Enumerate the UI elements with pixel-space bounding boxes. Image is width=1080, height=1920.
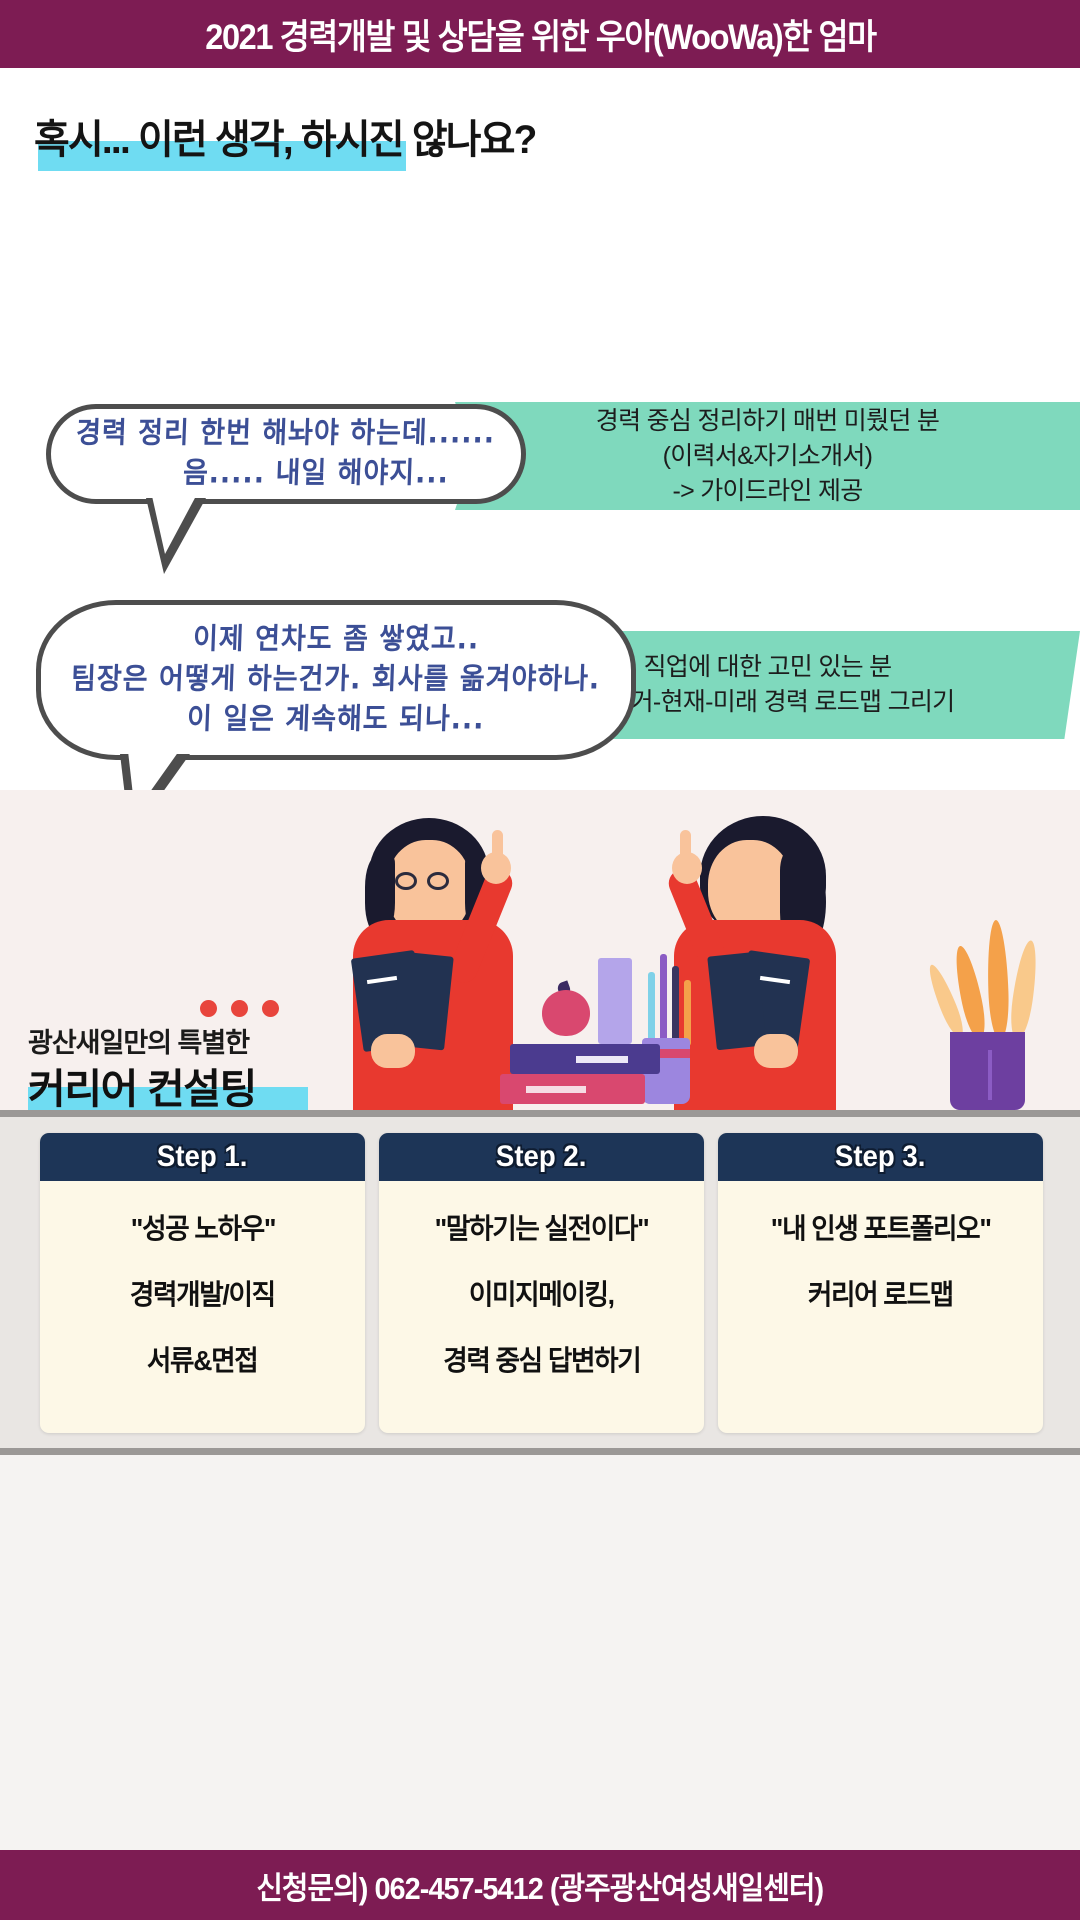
step-line: "성공 노하우" <box>130 1207 274 1247</box>
subtitle-text: 혹시... 이런 생각, 하시진 않나요? <box>34 110 1049 170</box>
speech-bubble-1: 경력 정리 한번 해놔야 하는데...... 음..... 내일 해야지... <box>46 404 526 504</box>
step-line: "내 인생 포트폴리오" <box>771 1207 991 1247</box>
step-label: Step 2. <box>496 1140 587 1174</box>
pencil-icon <box>684 980 691 1046</box>
book-label <box>576 1056 628 1063</box>
header-bar: 2021 경력개발 및 상담을 위한 우아(WooWa)한 엄마 <box>0 0 1080 68</box>
steps-row: Step 1. "성공 노하우" 경력개발/이직 서류&면접 Step 2. "… <box>40 1133 1045 1433</box>
step-card-header: Step 2. <box>379 1133 704 1181</box>
pen-icon <box>672 966 679 1046</box>
plant-leaf-icon <box>1007 939 1041 1041</box>
brand-title: 커리어 컨설팅 <box>28 1065 368 1113</box>
step-label: Step 3. <box>835 1140 926 1174</box>
step-line: 커리어 로드맵 <box>808 1273 953 1313</box>
glasses-icon <box>395 872 417 890</box>
step-card-3[interactable]: Step 3. "내 인생 포트폴리오" 커리어 로드맵 <box>718 1133 1043 1433</box>
pointing-finger <box>492 830 503 860</box>
dot-icon <box>262 1000 279 1017</box>
step-line: 경력 중심 답변하기 <box>443 1339 640 1379</box>
step-line: 경력개발/이직 <box>130 1273 275 1313</box>
answer-panel-1: 경력 중심 정리하기 매번 미뤘던 분 (이력서&자기소개서) -> 가이드라인… <box>455 402 1080 510</box>
step-card-body: "말하기는 실전이다" 이미지메이킹, 경력 중심 답변하기 <box>379 1181 704 1433</box>
plant-leaf-icon <box>986 920 1010 1041</box>
footer-blank-area <box>0 1455 1080 1850</box>
step-line: "말하기는 실전이다" <box>435 1207 649 1247</box>
footer-divider <box>0 1448 1080 1455</box>
desk-objects <box>490 950 720 1110</box>
pencil-icon <box>648 972 655 1046</box>
speech-bubble-2: 이제 연차도 좀 쌓였고.. 팀장은 어떻게 하는건가. 회사를 옮겨야하나. … <box>36 600 636 760</box>
hand <box>371 1034 415 1068</box>
footer-bar: 신청문의) 062-457-5412 (광주광산여성새일센터) <box>0 1850 1080 1920</box>
hand <box>754 1034 798 1068</box>
step-line: 이미지메이킹, <box>469 1273 614 1313</box>
step-line: 서류&면접 <box>147 1339 257 1379</box>
contact-text: 신청문의) 062-457-5412 (광주광산여성새일센터) <box>257 1863 824 1908</box>
step-card-header: Step 1. <box>40 1133 365 1181</box>
book-label <box>526 1086 586 1093</box>
bubble-line: 이제 연차도 좀 쌓였고.. <box>192 618 480 661</box>
answer-line: -> 과거-현재-미래 경력 로드맵 그리기 <box>581 685 955 720</box>
speech-bubble-tail-1-inner <box>152 496 196 554</box>
answer-line: -> 가이드라인 제공 <box>672 474 862 509</box>
answer-line: 직업에 대한 고민 있는 분 <box>644 650 892 685</box>
step-card-header: Step 3. <box>718 1133 1043 1181</box>
apple-icon <box>542 990 590 1036</box>
plant-pot-icon <box>950 1032 1025 1110</box>
brand-title-wrap: 커리어 컨설팅 <box>28 1065 368 1117</box>
answer-line: (이력서&자기소개서) <box>663 439 873 474</box>
brand-block: 광산새일만의 특별한 커리어 컨설팅 <box>28 1000 368 1117</box>
dot-icon <box>231 1000 248 1017</box>
bubble-line: 경력 정리 한번 해놔야 하는데...... <box>76 412 497 455</box>
dot-icon <box>200 1000 217 1017</box>
bubble-line: 이 일은 계속해도 되나... <box>186 698 485 741</box>
step-label: Step 1. <box>157 1140 248 1174</box>
glasses-icon <box>427 872 449 890</box>
step-card-body: "내 인생 포트폴리오" 커리어 로드맵 <box>718 1181 1043 1433</box>
step-card-body: "성공 노하우" 경력개발/이직 서류&면접 <box>40 1181 365 1433</box>
page-title: 2021 경력개발 및 상담을 위한 우아(WooWa)한 엄마 <box>205 9 875 60</box>
decorative-dots <box>200 1000 368 1017</box>
pointing-finger <box>680 830 691 860</box>
bubble-line: 팀장은 어떻게 하는건가. 회사를 옮겨야하나. <box>71 658 602 701</box>
subtitle-section: 혹시... 이런 생각, 하시진 않나요? <box>34 110 1080 176</box>
step-card-1[interactable]: Step 1. "성공 노하우" 경력개발/이직 서류&면접 <box>40 1133 365 1433</box>
paper-roll-icon <box>598 958 632 1044</box>
bubble-line: 음..... 내일 해야지... <box>182 452 449 495</box>
answer-line: 경력 중심 정리하기 매번 미뤘던 분 <box>596 404 939 439</box>
brand-subtitle: 광산새일만의 특별한 <box>28 1025 368 1061</box>
pen-icon <box>660 954 667 1046</box>
step-card-2[interactable]: Step 2. "말하기는 실전이다" 이미지메이킹, 경력 중심 답변하기 <box>379 1133 704 1433</box>
